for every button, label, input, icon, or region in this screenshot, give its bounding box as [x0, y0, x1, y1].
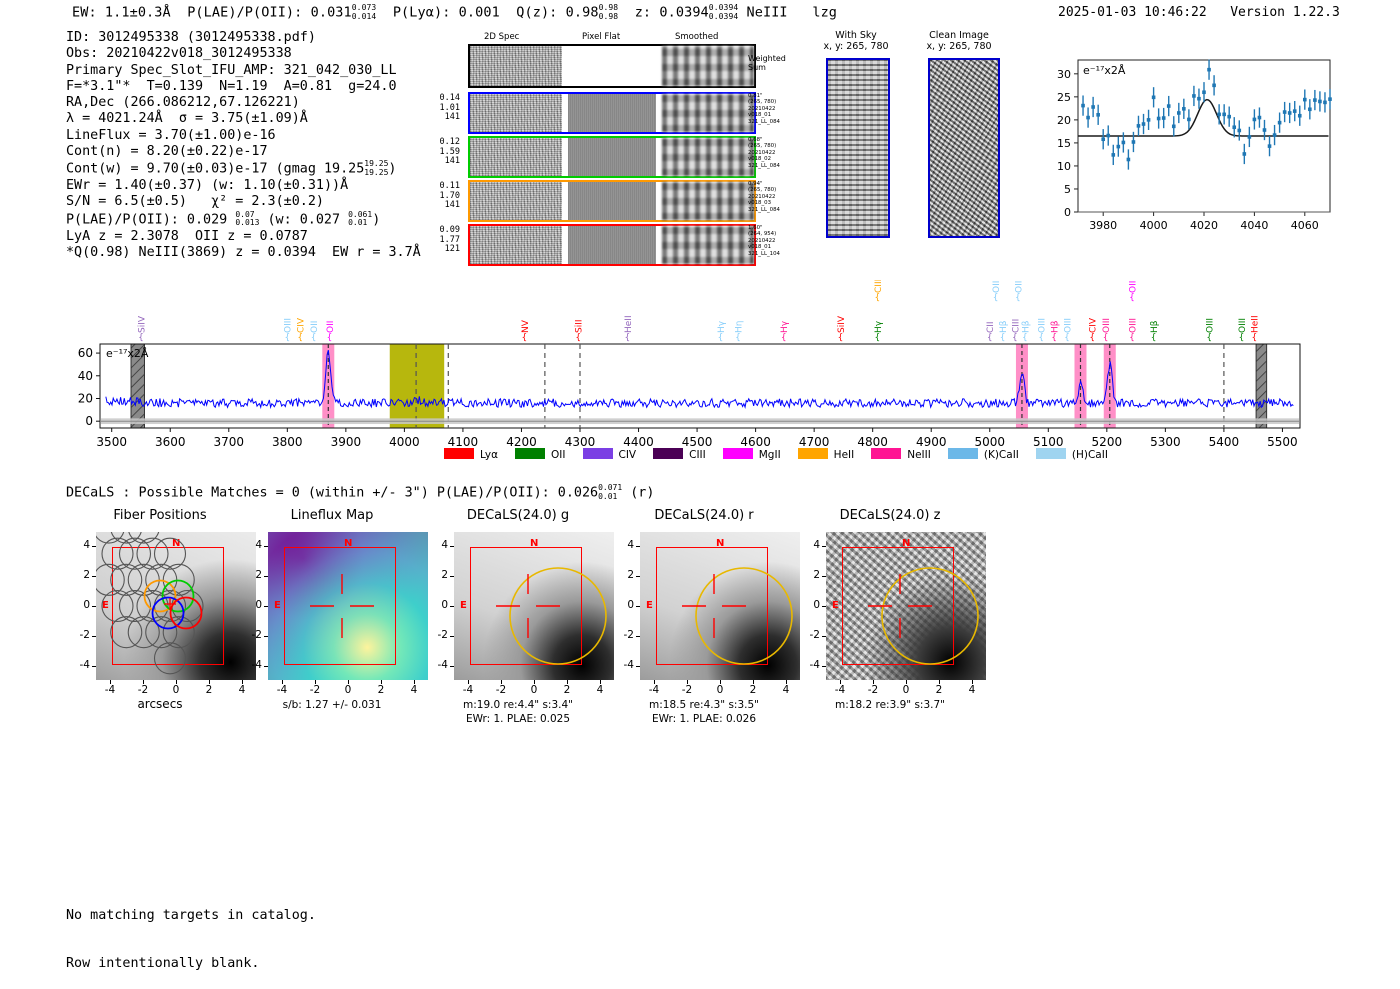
header-plae-value: 0.031: [311, 5, 352, 21]
info-id: ID: 3012495338 (3012495338.pdf): [66, 30, 421, 46]
data-point: [1318, 100, 1322, 104]
info-primary-spec: Primary Spec_Slot_IFU_AMP: 321_042_030_L…: [66, 63, 421, 79]
spec2d-stat: 121: [430, 245, 460, 255]
weighted-sum-2dspec: [470, 46, 562, 86]
header-ew: EW: 1.1±0.3Å: [72, 5, 171, 21]
data-point: [1111, 153, 1115, 157]
legend-swatch: [583, 448, 613, 459]
line-bracket: {: [987, 333, 993, 343]
info-ewr: EWr = 1.40(±0.37) (w: 1.10(±0.31))Å: [66, 178, 421, 194]
y-tick-label: 10: [1057, 160, 1071, 173]
full-spectrum-svg: 0204060350036003700380039004000410042004…: [60, 280, 1350, 470]
spec2d-row-meta: 1.60" (264, 954) 20210422 v018_01 321_LL…: [748, 225, 780, 257]
line-bracket: {: [1129, 333, 1135, 343]
cutout-y-tick: 0: [798, 599, 820, 611]
header-plya-label: P(Lyα):: [393, 5, 451, 21]
spec2d-cell-pixelflat: [568, 182, 656, 220]
header-plya-value: 0.001: [459, 5, 500, 21]
cutout-y-tick: 2: [426, 569, 448, 581]
legend-item: (K)CaII: [948, 449, 1019, 461]
cutout-x-tick: 2: [742, 684, 764, 696]
line-bracket: {: [718, 333, 724, 343]
info-ftna: F=*3.1"* T=0.139 N=1.19 A=0.81 g=24.0: [66, 79, 421, 95]
legend-item: HeII: [798, 449, 855, 461]
spec2d-cell-smoothed: [662, 138, 754, 176]
cutout-x-tickmark: [110, 680, 111, 684]
legend-swatch: [871, 448, 901, 459]
cutout-image: NE: [640, 532, 800, 680]
cutout-y-tickmark: [636, 546, 640, 547]
cutout-caption-2: EWr: 1. PLAE: 0.025: [418, 713, 618, 726]
spec2d-panel: 2D Spec Pixel Flat Smoothed Weighted Sum…: [432, 32, 762, 252]
cutout-y-tick: -4: [240, 659, 262, 671]
line-label: HeII: [624, 315, 634, 333]
data-point: [1308, 107, 1312, 111]
clean-image: [928, 58, 1000, 238]
cutout-x-tickmark: [720, 680, 721, 684]
spectrum-frame: [100, 344, 1300, 428]
data-point: [1217, 113, 1221, 117]
line-bracket: {: [1015, 293, 1021, 303]
cutout-x-tick: -4: [271, 684, 293, 696]
cutout-x-tick: 2: [370, 684, 392, 696]
header-summary-line: EW: 1.1±0.3Å P(LAE)/P(OII): 0.0310.0730.…: [72, 4, 837, 21]
spectrum-y-tick: 20: [78, 391, 93, 405]
footer-note: No matching targets in catalog. Row inte…: [66, 875, 316, 989]
cutout-panel: Fiber PositionsNE420-2-4-4-2024arcsecs: [60, 508, 260, 708]
decals-header: DECaLS : Possible Matches = 0 (within +/…: [66, 484, 654, 501]
cutout-y-tick: 4: [798, 539, 820, 551]
line-bracket: {: [327, 333, 333, 343]
line-label: OIII: [992, 280, 1002, 293]
legend-label: HeII: [834, 449, 855, 461]
cutout-x-tickmark: [906, 680, 907, 684]
cutout-y-tick: 2: [68, 569, 90, 581]
data-point: [1323, 101, 1327, 105]
data-point: [1288, 111, 1292, 115]
cutout-y-tickmark: [450, 606, 454, 607]
version: Version 1.22.3: [1230, 5, 1340, 20]
cutout-y-tickmark: [822, 636, 826, 637]
fiber-circle: [155, 643, 186, 674]
cutout-x-tick: -4: [457, 684, 479, 696]
line-bracket: {: [1239, 333, 1245, 343]
spec2d-cell-2dspec: [470, 94, 562, 132]
line-label: Hγ: [717, 320, 727, 333]
cutout-y-tick: 2: [240, 569, 262, 581]
line-label: Hβ: [1021, 320, 1031, 333]
info-radec: RA,Dec (266.086212,67.126221): [66, 95, 421, 111]
cutout-image: NE: [268, 532, 428, 680]
line-bracket: {: [284, 333, 290, 343]
decals-band: (r): [630, 486, 654, 501]
spectrum-x-tick: 4700: [799, 435, 830, 449]
data-point: [1167, 104, 1171, 108]
header-plae-label: P(LAE)/P(OII):: [187, 5, 302, 21]
data-point: [1253, 118, 1257, 122]
legend-item: NeIII: [871, 449, 931, 461]
line-label: NV: [521, 319, 531, 333]
spec2d-cell-pixelflat: [568, 138, 656, 176]
spec2d-cell-2dspec: [470, 182, 562, 220]
data-point: [1142, 122, 1146, 126]
info-gmag-range: 19.2519.25: [364, 160, 388, 177]
cutout-image: NE: [826, 532, 986, 680]
spectrum-x-tick: 5200: [1092, 435, 1123, 449]
aperture-circle: [882, 568, 978, 664]
line-bracket: {: [735, 333, 741, 343]
legend-swatch: [653, 448, 683, 459]
spec2d-cell-pixelflat: [568, 226, 656, 264]
data-point: [1293, 109, 1297, 113]
with-sky-title: With Skyx, y: 265, 780: [806, 30, 906, 52]
cutout-x-tick: -2: [304, 684, 326, 696]
line-label: OIII: [1128, 318, 1138, 333]
data-point: [1182, 107, 1186, 111]
data-point: [1278, 121, 1282, 125]
cutout-overlay: [268, 532, 428, 680]
cutout-x-tick: 0: [895, 684, 917, 696]
cutout-y-tickmark: [636, 576, 640, 577]
line-bracket: {: [838, 333, 844, 343]
line-bracket: {: [1103, 333, 1109, 343]
clean-image-texture: [930, 60, 998, 236]
legend-swatch: [515, 448, 545, 459]
line-bracket: {: [297, 333, 303, 343]
cutout-y-tickmark: [92, 636, 96, 637]
cutout-caption-1: m:19.0 re:4.4" s:3.4": [418, 699, 618, 712]
weighted-sum-label: Weighted Sum: [748, 54, 786, 72]
info-plae: P(LAE)/P(OII): 0.029 0.070.013 (w: 0.027…: [66, 211, 421, 229]
legend-swatch: [1036, 448, 1066, 459]
spectrum-x-tick: 5000: [974, 435, 1005, 449]
data-point: [1192, 94, 1196, 98]
cutout-y-tick: -4: [426, 659, 448, 671]
spec2d-row-stats: 0.091.77121: [430, 226, 460, 255]
cutout-x-tick: 2: [556, 684, 578, 696]
spectrum-x-tick: 3700: [214, 435, 245, 449]
cutout-panel: Lineflux MapNE420-2-4-4-2024s/b: 1.27 +/…: [232, 508, 432, 708]
spec2d-stat: 141: [430, 113, 460, 123]
line-bracket: {: [1251, 333, 1257, 343]
line-label: SiIV: [137, 315, 147, 333]
cutout-panel: DECaLS(24.0) zNE420-2-4-4-2024m:18.2 re:…: [790, 508, 990, 708]
line-label: OIII: [1102, 318, 1112, 333]
info-sn-chi2: S/N = 6.5(±0.5) χ² = 2.3(±0.2): [66, 194, 421, 210]
data-point: [1222, 113, 1226, 117]
line-bracket: {: [874, 333, 880, 343]
cutout-y-tickmark: [264, 576, 268, 577]
header-qz-value: 0.98: [566, 5, 599, 21]
line-label: CII: [986, 321, 996, 333]
aperture-circle: [696, 568, 792, 664]
cutout-y-tickmark: [822, 666, 826, 667]
cutout-y-tick: -2: [68, 629, 90, 641]
cutout-x-tick: 0: [523, 684, 545, 696]
emission-line-plot: 05101520253039804000402040404060e⁻¹⁷x2Å: [1030, 40, 1340, 250]
spec2d-col-header-smoothed: Smoothed: [675, 32, 718, 42]
legend-swatch: [798, 448, 828, 459]
cutout-y-tickmark: [92, 576, 96, 577]
with-sky-image: [826, 58, 890, 238]
full-spectrum-plot: 0204060350036003700380039004000410042004…: [60, 280, 1350, 470]
data-point: [1227, 115, 1231, 119]
cutout-x-tick: 2: [198, 684, 220, 696]
line-label: OIII: [1038, 318, 1048, 333]
spectrum-x-tick: 4900: [916, 435, 947, 449]
line-label: CIII: [1011, 319, 1021, 333]
header-qz-range: 0.980.98: [599, 4, 619, 21]
legend-item: (H)CaII: [1036, 449, 1108, 461]
data-point: [1263, 128, 1267, 132]
cutout-y-tick: -2: [240, 629, 262, 641]
line-bracket: {: [874, 293, 880, 303]
legend-swatch: [444, 448, 474, 459]
x-tick-label: 4040: [1240, 219, 1268, 232]
emission-plot-annotation: e⁻¹⁷x2Å: [1083, 64, 1126, 77]
cutout-y-tick: 4: [426, 539, 448, 551]
cutout-y-tick: 0: [612, 599, 634, 611]
cutout-x-tick: -2: [490, 684, 512, 696]
cutout-y-tick: 4: [68, 539, 90, 551]
spectrum-x-tick: 4400: [623, 435, 654, 449]
spec2d-row-stats: 0.121.59141: [430, 138, 460, 167]
cutout-y-tickmark: [264, 606, 268, 607]
cutout-overlay: [640, 532, 800, 680]
line-label: CIV: [1089, 317, 1099, 333]
data-point: [1313, 98, 1317, 102]
legend-label: CIV: [619, 449, 637, 461]
weighted-sum-smoothed: [662, 46, 754, 86]
decals-plae-value: 0.026: [558, 486, 598, 501]
cutout-x-tickmark: [209, 680, 210, 684]
cutout-y-tickmark: [264, 636, 268, 637]
cutout-x-tickmark: [873, 680, 874, 684]
spectrum-x-tick: 5500: [1267, 435, 1298, 449]
cutout-x-tickmark: [567, 680, 568, 684]
line-bracket: {: [1038, 333, 1044, 343]
cutout-x-tickmark: [176, 680, 177, 684]
y-tick-label: 25: [1057, 91, 1071, 104]
decals-plae-range: 0.0710.01: [598, 484, 622, 501]
data-point: [1258, 116, 1262, 120]
cutout-x-tick: -2: [862, 684, 884, 696]
legend-swatch: [723, 448, 753, 459]
x-tick-label: 4060: [1291, 219, 1319, 232]
spec2d-cell-2dspec: [470, 226, 562, 264]
x-tick-label: 4000: [1140, 219, 1168, 232]
line-label: SiII: [575, 319, 585, 333]
cutout-y-tick: -4: [68, 659, 90, 671]
header-flag: lzg: [812, 5, 837, 21]
spectrum-x-tick: 4800: [857, 435, 888, 449]
cutout-overlay: [454, 532, 614, 680]
fiber-circle: [111, 617, 142, 648]
cutout-title: DECaLS(24.0) z: [790, 508, 990, 523]
spec2d-cell-smoothed: [662, 226, 754, 264]
cutout-x-tickmark: [414, 680, 415, 684]
spectrum-x-tick: 4600: [740, 435, 771, 449]
cutout-y-tickmark: [264, 666, 268, 667]
data-point: [1212, 84, 1216, 88]
cutout-x-tick: 0: [165, 684, 187, 696]
line-bracket: {: [1129, 293, 1135, 303]
cutout-panel: DECaLS(24.0) rNE420-2-4-4-2024m:18.5 re:…: [604, 508, 804, 708]
cutout-y-tickmark: [92, 546, 96, 547]
cutout-image: NE: [454, 532, 614, 680]
y-tick-label: 30: [1057, 68, 1071, 81]
line-label: OIII: [1206, 318, 1216, 333]
spec2d-row-stats: 0.141.01141: [430, 94, 460, 123]
cutout-caption-2: EWr: 1. PLAE: 0.026: [604, 713, 804, 726]
cutout-x-tickmark: [600, 680, 601, 684]
weighted-sum-pixelflat: [568, 46, 656, 86]
spectrum-y-tick: 40: [78, 369, 93, 383]
spectrum-x-tick: 3600: [155, 435, 186, 449]
cutout-x-tickmark: [840, 680, 841, 684]
data-point: [1232, 125, 1236, 129]
data-point: [1147, 118, 1151, 122]
info-lineflux: LineFlux = 3.70(±1.00)e-16: [66, 128, 421, 144]
cutout-x-tickmark: [534, 680, 535, 684]
info-qline: *Q(0.98) NeIII(3869) z = 0.0394 EW r = 3…: [66, 245, 421, 261]
data-point: [1177, 111, 1181, 115]
spectrum-y-tick: 60: [78, 346, 93, 360]
cutout-title: Lineflux Map: [232, 508, 432, 523]
spec2d-col-header-2dspec: 2D Spec: [484, 32, 519, 42]
spectrum-x-tick: 4200: [506, 435, 537, 449]
line-bracket: {: [575, 333, 581, 343]
cutout-x-tickmark: [501, 680, 502, 684]
data-point: [1096, 113, 1100, 117]
data-point: [1122, 141, 1126, 145]
cutout-y-tick: 0: [240, 599, 262, 611]
cutout-y-tickmark: [822, 606, 826, 607]
cutout-x-tick: -4: [829, 684, 851, 696]
spec2d-stat: 141: [430, 201, 460, 211]
line-bracket: {: [993, 293, 999, 303]
line-label: OII: [1128, 281, 1138, 293]
cutout-y-tick: -4: [798, 659, 820, 671]
legend-item: Lyα: [444, 449, 498, 461]
cutout-x-tickmark: [315, 680, 316, 684]
line-label: OII: [310, 321, 320, 333]
cutout-x-tickmark: [282, 680, 283, 684]
line-label: Hγ: [874, 320, 884, 333]
line-label: OIII: [1014, 280, 1024, 293]
source-info-block: ID: 3012495338 (3012495338.pdf) Obs: 202…: [66, 30, 421, 261]
cutout-panel: DECaLS(24.0) gNE420-2-4-4-2024m:19.0 re:…: [418, 508, 618, 708]
cutout-x-tickmark: [381, 680, 382, 684]
spectrum-y-tick: 0: [85, 414, 93, 428]
cutout-caption-1: m:18.2 re:3.9" s:3.7": [790, 699, 990, 712]
cutout-x-tickmark: [972, 680, 973, 684]
legend-label: (H)CaII: [1072, 449, 1108, 461]
y-tick-label: 0: [1064, 206, 1071, 219]
data-point: [1162, 116, 1166, 120]
line-label: Hβ: [1051, 320, 1061, 333]
spectrum-x-tick: 4100: [448, 435, 479, 449]
spectrum-annotation: e⁻¹⁷x2Å: [106, 347, 149, 360]
spec2d-row-stats: 0.111.70141: [430, 182, 460, 211]
cutout-caption-1: s/b: 1.27 +/- 0.031: [232, 699, 432, 712]
legend-item: OII: [515, 449, 565, 461]
cutout-x-tick: 2: [928, 684, 950, 696]
legend-label: OII: [551, 449, 565, 461]
legend-item: MgII: [723, 449, 781, 461]
y-tick-label: 5: [1064, 183, 1071, 196]
cutout-y-tickmark: [450, 666, 454, 667]
line-label: OIII: [284, 318, 294, 333]
data-point: [1187, 118, 1191, 122]
cutout-y-tick: 0: [68, 599, 90, 611]
decals-header-text: DECaLS : Possible Matches = 0 (within +/…: [66, 486, 550, 501]
cutout-y-tickmark: [264, 546, 268, 547]
data-point: [1101, 137, 1105, 141]
spec2d-weighted-sum-row: [468, 44, 756, 88]
cutout-caption-1: m:18.5 re:4.3" s:3.5": [604, 699, 804, 712]
spec2d-cell-pixelflat: [568, 94, 656, 132]
cutout-x-tickmark: [786, 680, 787, 684]
data-point: [1132, 140, 1136, 144]
data-point: [1207, 68, 1211, 72]
data-point: [1303, 98, 1307, 102]
legend-label: NeIII: [907, 449, 931, 461]
line-label: Hβ: [999, 320, 1009, 333]
data-point: [1106, 134, 1110, 138]
data-point: [1202, 90, 1206, 94]
fiber-circle-highlight-red: [171, 598, 202, 629]
info-redshifts: LyA z = 2.3078 OII z = 0.0787: [66, 229, 421, 245]
cutout-y-tick: 2: [798, 569, 820, 581]
line-label: CIV: [297, 317, 307, 333]
info-cont-w: Cont(w) = 9.70(±0.03)e-17 (gmag 19.2519.…: [66, 160, 421, 178]
data-point: [1117, 145, 1121, 149]
spec2d-row: [468, 92, 756, 134]
cutout-y-tickmark: [822, 546, 826, 547]
cutout-y-tickmark: [450, 636, 454, 637]
spec2d-row: [468, 136, 756, 178]
cutout-overlay: [826, 532, 986, 680]
header-timestamp-version: 2025-01-03 10:46:22 Version 1.22.3: [1058, 5, 1340, 20]
data-point: [1157, 117, 1161, 121]
cutout-y-tick: -2: [426, 629, 448, 641]
cutout-y-tick: 4: [612, 539, 634, 551]
line-label: OIII: [1238, 318, 1248, 333]
cutout-x-tick: -2: [132, 684, 154, 696]
cutout-y-tickmark: [450, 576, 454, 577]
data-point: [1091, 105, 1095, 109]
line-bracket: {: [1206, 333, 1212, 343]
data-point: [1283, 110, 1287, 114]
cutout-x-tickmark: [939, 680, 940, 684]
line-label: Hη: [734, 321, 744, 333]
spectrum-x-tick: 3800: [272, 435, 303, 449]
spectrum-x-tick: 5400: [1209, 435, 1240, 449]
masked-region: [1256, 344, 1267, 428]
legend-item: CIV: [583, 449, 637, 461]
data-point: [1152, 96, 1156, 100]
header-line-id: NeIII: [747, 5, 788, 21]
spectrum-legend: LyαOIICIVCIIIMgIIHeIINeIII(K)CaII(H)CaII: [444, 448, 1125, 461]
line-bracket: {: [1000, 333, 1006, 343]
line-label: HeII: [1251, 315, 1261, 333]
info-lambda-sigma: λ = 4021.24Å σ = 3.75(±1.09)Å: [66, 111, 421, 127]
data-point: [1086, 116, 1090, 120]
data-point: [1328, 97, 1332, 101]
info-plae-w-range: 0.0610.01: [348, 211, 372, 228]
legend-label: (K)CaII: [984, 449, 1019, 461]
